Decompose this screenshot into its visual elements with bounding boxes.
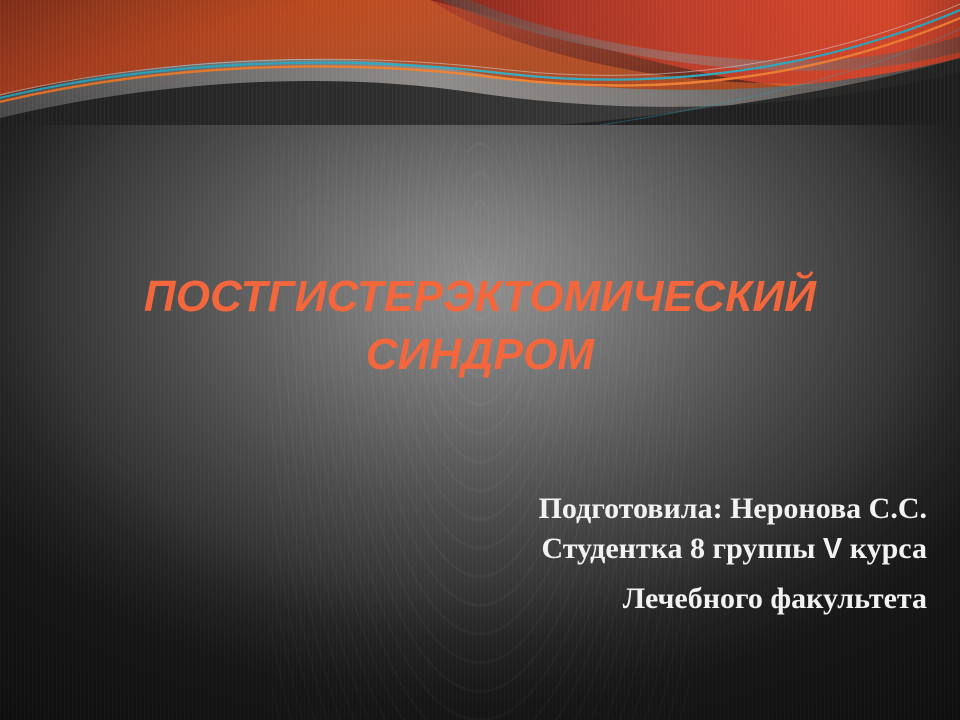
slide-subtitle: Подготовила: Неронова С.С. Студентка 8 г… <box>307 489 927 619</box>
title-line-1: ПОСТГИСТЕРЭКТОМИЧЕСКИЙ <box>0 268 960 326</box>
wave-banner-decoration <box>0 0 960 125</box>
subtitle-course-roman-numeral: V <box>823 533 842 565</box>
slide-title: ПОСТГИСТЕРЭКТОМИЧЕСКИЙ СИНДРОМ <box>0 268 960 384</box>
subtitle-author: Подготовила: Неронова С.С. <box>307 489 927 529</box>
subtitle-group-prefix: Студентка 8 группы <box>541 532 815 565</box>
title-line-2: СИНДРОМ <box>0 326 960 384</box>
subtitle-faculty: Лечебного факультета <box>307 579 927 619</box>
presentation-slide: ПОСТГИСТЕРЭКТОМИЧЕСКИЙ СИНДРОМ Подготови… <box>0 0 960 720</box>
subtitle-group: Студентка 8 группы V курса <box>307 529 927 569</box>
subtitle-group-suffix: курса <box>850 532 927 565</box>
